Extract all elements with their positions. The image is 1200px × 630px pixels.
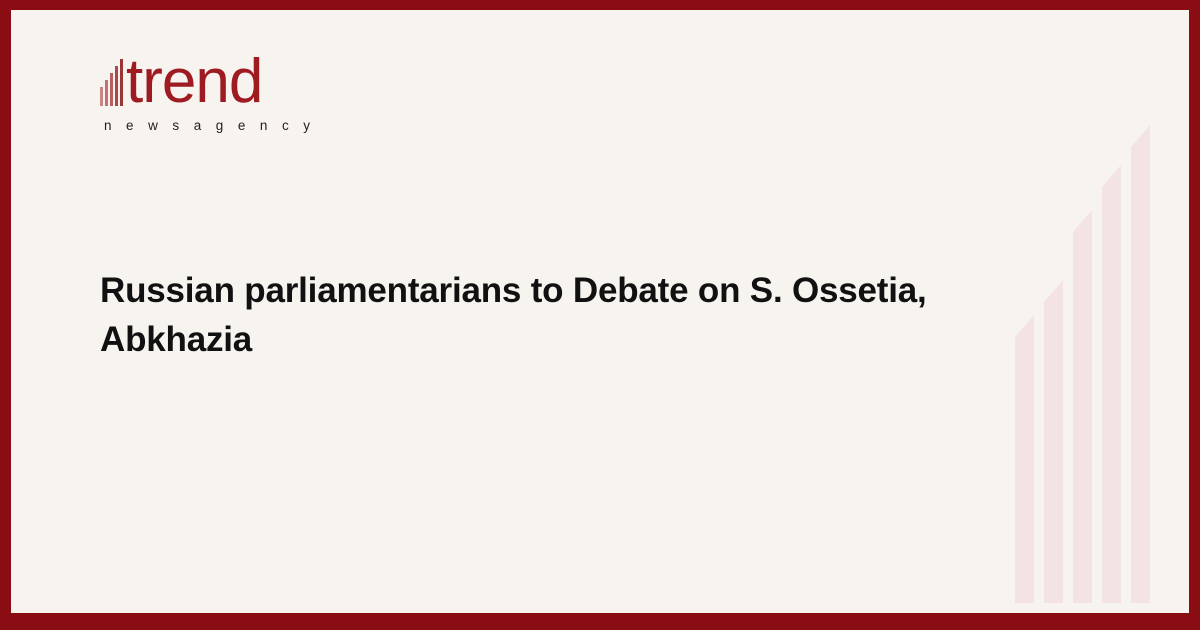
- card-canvas: trend n e w s a g e n c y Russian parlia…: [11, 10, 1189, 613]
- watermark-bar-3: [1073, 210, 1092, 603]
- watermark-bar-4: [1102, 165, 1121, 603]
- brand-logo[interactable]: trend n e w s a g e n c y: [100, 48, 360, 133]
- logo-bar-3: [110, 73, 113, 106]
- logo-bar-5: [120, 59, 123, 106]
- logo-tagline: n e w s a g e n c y: [104, 118, 360, 133]
- logo-bar-1: [100, 87, 103, 106]
- article-headline: Russian parliamentarians to Debate on S.…: [100, 266, 1000, 364]
- logo-mark-row: trend: [100, 48, 360, 110]
- watermark-bar-1: [1015, 315, 1034, 603]
- social-share-card: trend n e w s a g e n c y Russian parlia…: [0, 0, 1200, 630]
- logo-bar-4: [115, 66, 118, 106]
- logo-bar-2: [105, 80, 108, 106]
- watermark-bar-2: [1044, 280, 1063, 603]
- logo-wordmark: trend: [126, 53, 262, 110]
- watermark-bar-5: [1131, 125, 1150, 603]
- ascending-bars-watermark: [1015, 10, 1165, 613]
- ascending-bars-logo-icon: [100, 50, 125, 106]
